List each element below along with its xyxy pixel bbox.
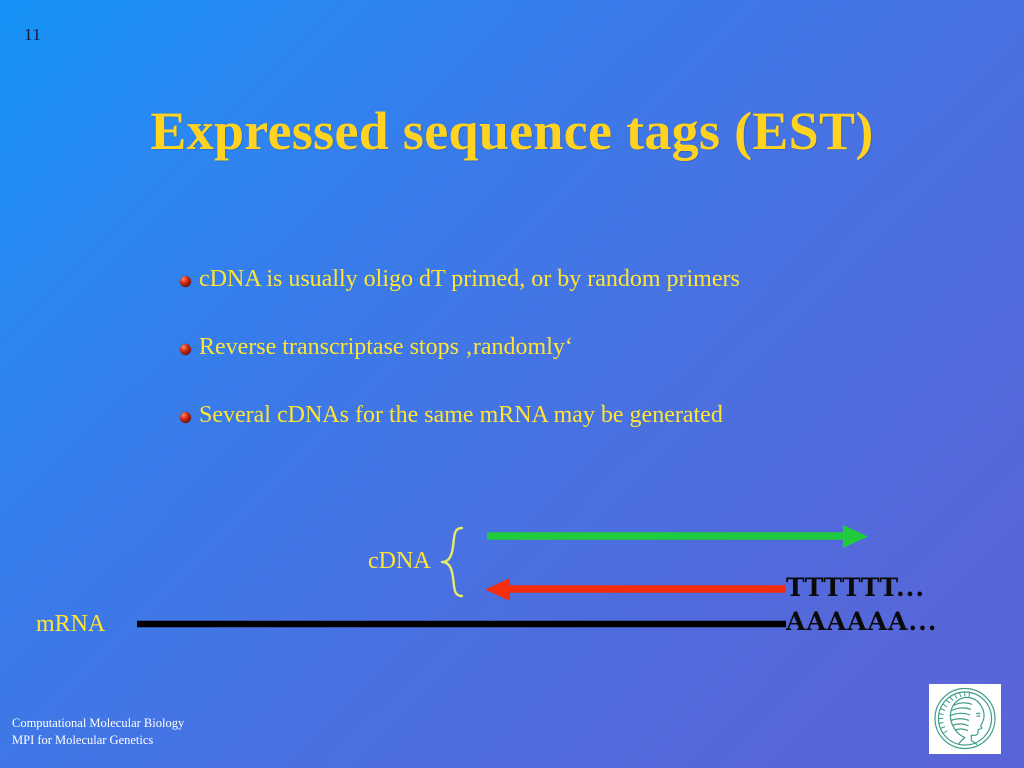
list-item: Reverse transcriptase stops ‚randomly‘ — [180, 333, 940, 401]
footer-line-2: MPI for Molecular Genetics — [12, 732, 184, 750]
list-item: cDNA is usually oligo dT primed, or by r… — [180, 265, 940, 333]
list-item-label: Several cDNAs for the same mRNA may be g… — [199, 401, 723, 430]
page-number: 11 — [24, 26, 41, 43]
page-title: Expressed sequence tags (EST) — [0, 103, 1024, 160]
poly-a-sequence-label: AAAAAA... — [786, 609, 938, 634]
cdna-brace-icon — [442, 528, 462, 596]
list-item-label: Reverse transcriptase stops ‚randomly‘ — [199, 333, 573, 362]
red-ball-bullet-icon — [180, 412, 191, 423]
red-ball-bullet-icon — [180, 276, 191, 287]
minerva-icon — [929, 684, 1001, 754]
red-ball-bullet-icon — [180, 344, 191, 355]
second-strand-arrow — [487, 525, 868, 548]
list-item-label: cDNA is usually oligo dT primed, or by r… — [199, 265, 740, 294]
cdna-label: cDNA — [368, 549, 431, 573]
bullet-list: cDNA is usually oligo dT primed, or by r… — [180, 265, 940, 469]
slide-canvas: 11 Expressed sequence tags (EST) cDNA is… — [0, 0, 1024, 768]
footer-line-1: Computational Molecular Biology — [12, 715, 184, 733]
first-strand-arrow — [485, 578, 786, 601]
max-planck-minerva-logo — [929, 684, 1001, 754]
footer: Computational Molecular Biology MPI for … — [12, 715, 184, 751]
mrna-label: mRNA — [36, 612, 105, 636]
list-item: Several cDNAs for the same mRNA may be g… — [180, 401, 940, 469]
poly-t-sequence-label: TTTTTT... — [786, 575, 925, 600]
